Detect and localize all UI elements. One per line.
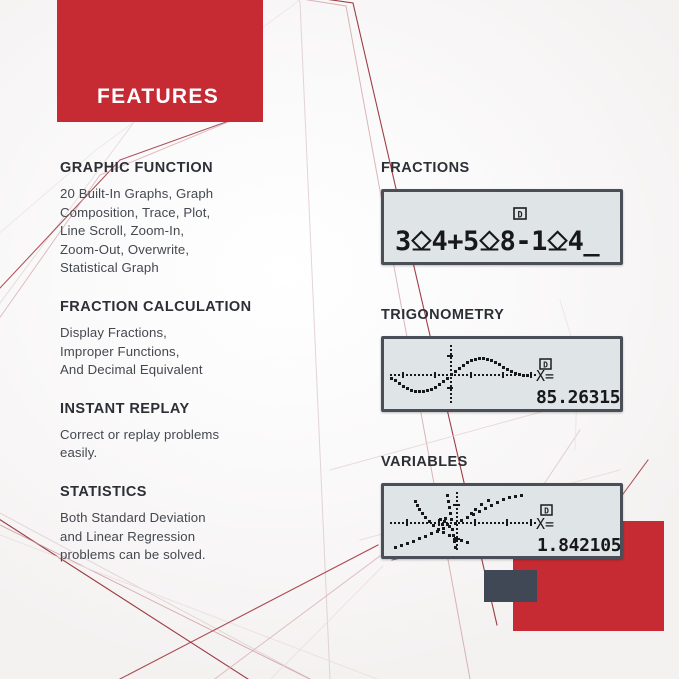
feature-title: INSTANT REPLAY — [60, 401, 360, 417]
lcd-screen-variables: D X= 1.842105 — [381, 483, 623, 559]
feature-title: STATISTICS — [60, 484, 360, 500]
feature-poster: FEATURES GRAPHIC FUNCTION 20 Built-In Gr… — [0, 0, 679, 679]
display-group-trigonometry: TRIGONOMETRY — [381, 307, 631, 412]
feature-description: Correct or replay problems easily. — [60, 426, 360, 463]
lcd-expression: 3⎐4+5⎐8-1⎐4_ — [395, 226, 600, 257]
display-title: VARIABLES — [381, 454, 631, 470]
feature-description: Both Standard Deviation and Linear Regre… — [60, 509, 360, 565]
lcd-screen-trigonometry: D X= 85.26315 — [381, 336, 623, 412]
feature-item-graphic-function: GRAPHIC FUNCTION 20 Built-In Graphs, Gra… — [60, 160, 360, 278]
feature-title: GRAPHIC FUNCTION — [60, 160, 360, 176]
feature-item-instant-replay: INSTANT REPLAY Correct or replay problem… — [60, 401, 360, 463]
feature-description: 20 Built-In Graphs, Graph Composition, T… — [60, 185, 360, 278]
slate-accent-block — [484, 570, 537, 602]
regression-scatter-graph — [390, 492, 536, 550]
feature-list: GRAPHIC FUNCTION 20 Built-In Graphs, Gra… — [60, 160, 360, 586]
page-title: FEATURES — [97, 85, 219, 109]
lcd-content-variables: D X= 1.842105 — [384, 486, 620, 556]
display-title: TRIGONOMETRY — [381, 307, 631, 323]
lcd-value: 85.26315 — [536, 387, 620, 408]
mode-indicator-d-icon: D — [541, 505, 552, 516]
display-group-variables: VARIABLES — [381, 454, 631, 559]
lcd-value: 1.842105 — [537, 535, 620, 556]
lcd-prompt: X= — [536, 515, 554, 533]
lcd-content-fractions: D 3⎐4+5⎐8-1⎐4_ — [384, 192, 620, 262]
lcd-screen-fractions: D 3⎐4+5⎐8-1⎐4_ — [381, 189, 623, 265]
display-title: FRACTIONS — [381, 160, 631, 176]
lcd-prompt: X= — [536, 367, 554, 385]
display-showcase: FRACTIONS D 3⎐4+5⎐8-1⎐4_ TRIGONOMETRY — [381, 160, 631, 559]
mode-indicator-d-icon: D — [514, 208, 526, 221]
feature-item-statistics: STATISTICS Both Standard Deviation and L… — [60, 484, 360, 565]
lcd-content-trigonometry: D X= 85.26315 — [384, 339, 620, 409]
display-group-fractions: FRACTIONS D 3⎐4+5⎐8-1⎐4_ — [381, 160, 631, 265]
sine-wave-graph — [390, 345, 536, 403]
feature-title: FRACTION CALCULATION — [60, 299, 360, 315]
feature-item-fraction-calculation: FRACTION CALCULATION Display Fractions, … — [60, 299, 360, 380]
feature-description: Display Fractions, Improper Functions, A… — [60, 324, 360, 380]
svg-text:D: D — [517, 211, 522, 221]
